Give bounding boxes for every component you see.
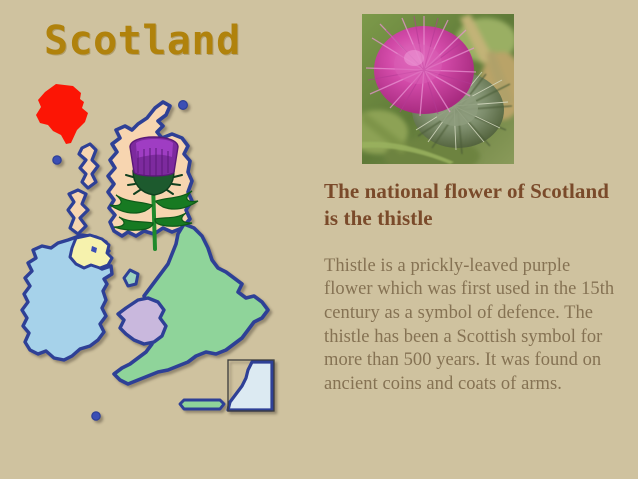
map-island-dot-west bbox=[53, 156, 61, 164]
thistle-emblem-drawing bbox=[106, 131, 202, 253]
text-column: The national flower of Scotland is the t… bbox=[324, 178, 616, 397]
content-paragraph: Thistle is a prickly-leaved purple flowe… bbox=[324, 255, 616, 397]
slide-canvas: Scotland bbox=[0, 0, 638, 479]
thistle-photograph bbox=[362, 14, 514, 164]
page-title: Scotland bbox=[44, 18, 241, 64]
thistle-leaf-right-lower bbox=[155, 213, 192, 226]
content-heading: The national flower of Scotland is the t… bbox=[324, 178, 616, 233]
map-region-hebrides-outer bbox=[79, 144, 98, 188]
thistle-leaf-right-mid bbox=[156, 191, 198, 209]
map-channel-inset bbox=[228, 360, 274, 411]
map-island-dot-southwest bbox=[92, 412, 100, 420]
thistle-leaf-left-mid bbox=[110, 195, 152, 213]
thistle-leaf-left-lower bbox=[114, 217, 153, 230]
map-region-wales bbox=[118, 298, 166, 344]
map-island-south-bar bbox=[180, 400, 224, 409]
map-region-isle-of-man bbox=[124, 270, 138, 286]
map-island-dot-north bbox=[179, 101, 188, 110]
map-region-hebrides-inner bbox=[68, 190, 88, 234]
